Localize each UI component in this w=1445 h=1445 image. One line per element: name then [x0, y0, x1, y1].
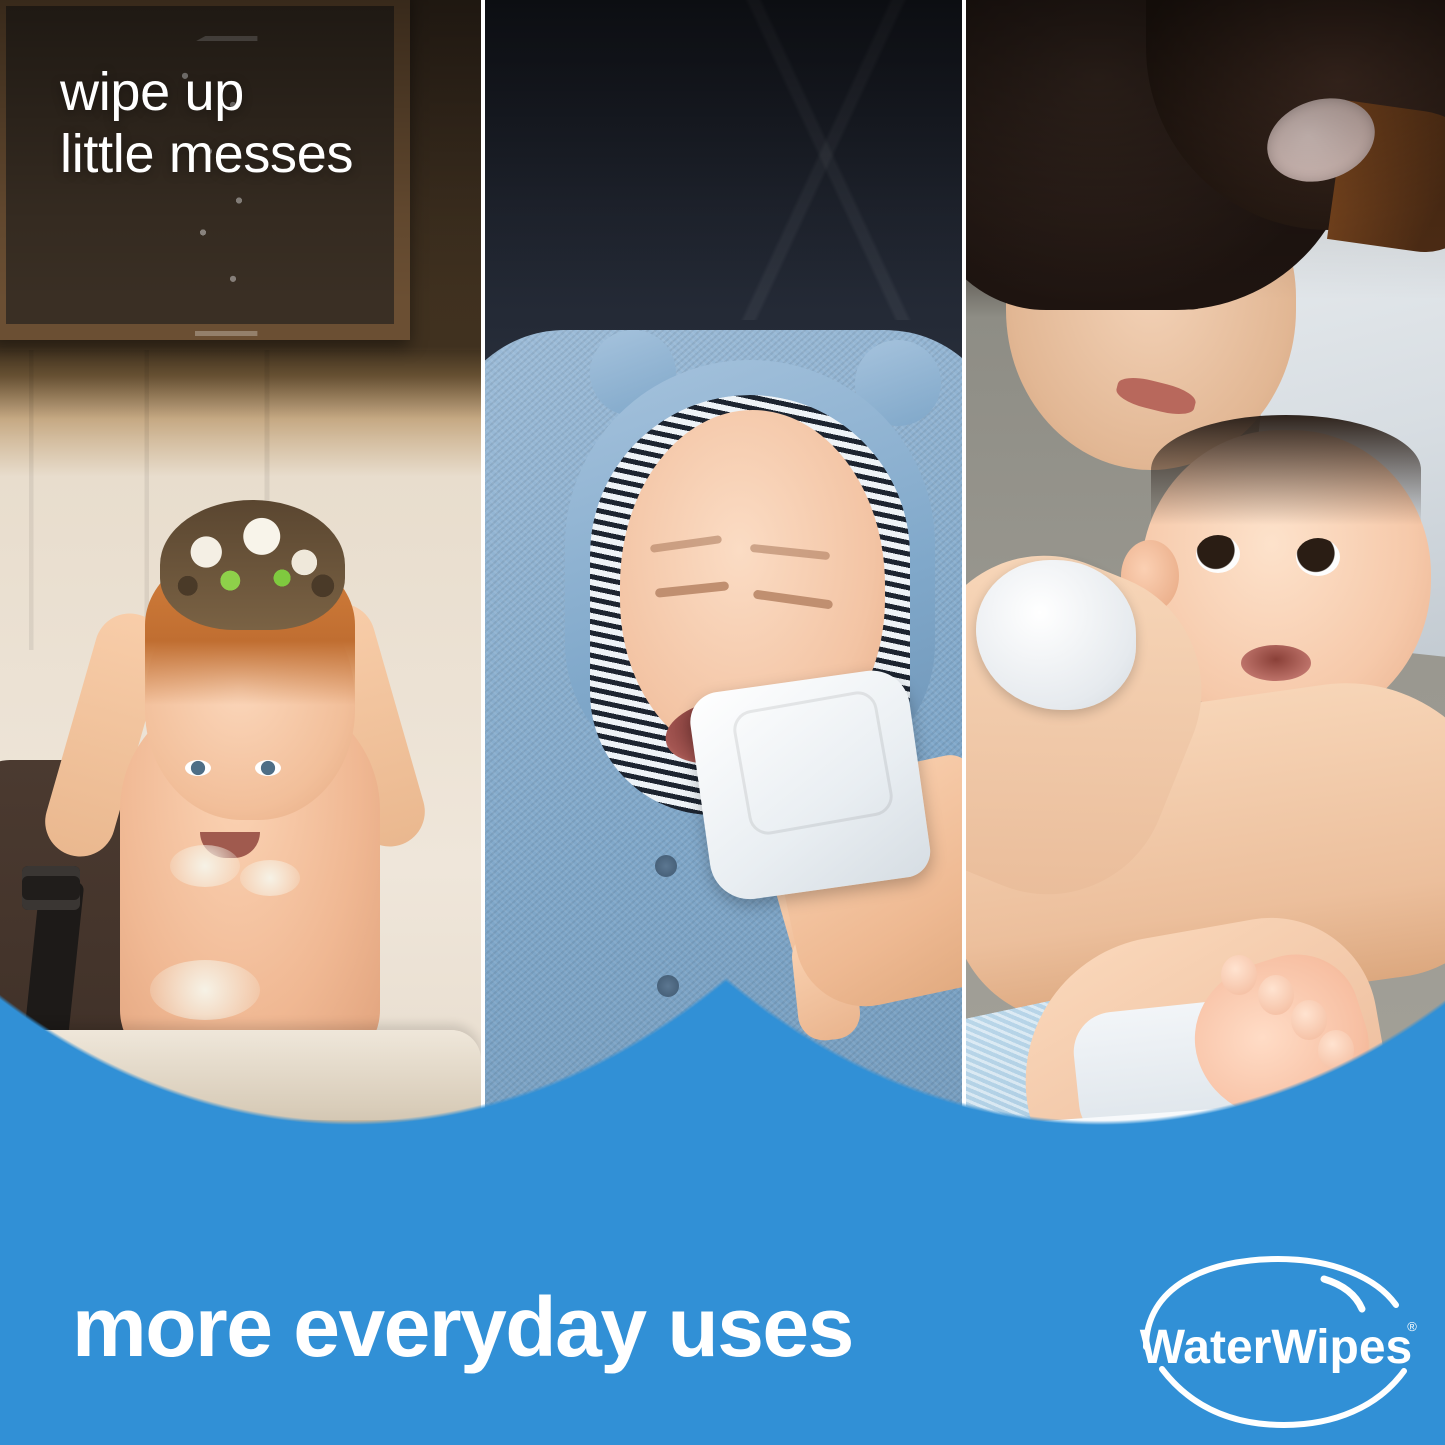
cake-on-head [160, 500, 345, 630]
baby-left-eye [1196, 535, 1240, 573]
baby-toe [1291, 1000, 1327, 1040]
footer-headline: more everyday uses [72, 1285, 853, 1369]
toddler-left-eye [185, 760, 211, 776]
logo-crescent-accent [1324, 1279, 1362, 1309]
outfit-button [657, 975, 679, 997]
baby-toe [1318, 1030, 1354, 1070]
baby-wipe-fold [730, 688, 896, 837]
logo-wordmark: WaterWipes [1140, 1321, 1413, 1374]
outfit-button [655, 855, 677, 877]
baby-mouth [1241, 645, 1311, 681]
cake-smudge [240, 860, 300, 896]
waterwipes-logo: WaterWipes ® [1128, 1251, 1428, 1431]
baby-toe [1221, 955, 1257, 995]
waterwipes-promo-poster: wipe up little messes [0, 0, 1445, 1445]
photo-collage: wipe up little messes [0, 0, 1445, 1445]
brand-footer-bar: more everyday uses WaterWipes ® [0, 1245, 1445, 1445]
baby-toe [1258, 975, 1294, 1015]
outfit-button [660, 1095, 682, 1117]
car-seat-quilting [685, 0, 962, 320]
photo-panel-refresh-skin: refresh skin [966, 0, 1445, 1445]
photo-panel-wipe-up-little-messes: wipe up little messes [0, 0, 481, 1445]
toddler-right-eye [255, 760, 281, 776]
logo-ring-bottom-arc [1162, 1369, 1404, 1425]
cake-smudge [150, 960, 260, 1020]
baby-right-eye [1296, 538, 1340, 576]
photo-panel-clean-on-the-go: clean on the go [485, 0, 962, 1445]
cake-smudge [170, 845, 240, 887]
highchair-buckle [22, 866, 80, 910]
baby-hair [1151, 415, 1421, 525]
caption-wipe-up-little-messes: wipe up little messes [60, 62, 353, 185]
logo-trademark-mark: ® [1407, 1319, 1417, 1334]
